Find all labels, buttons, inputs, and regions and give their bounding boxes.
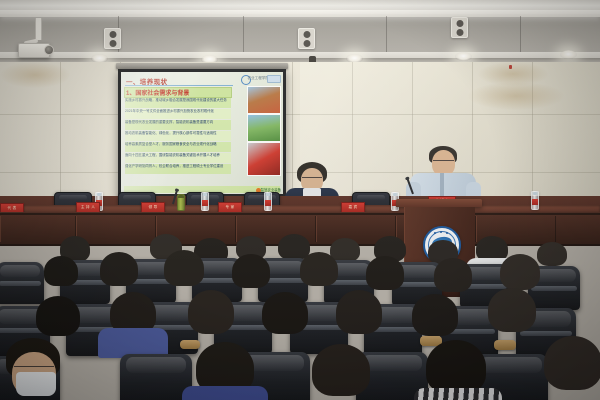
slide-title-rule: [125, 85, 233, 86]
lecture-hall-photo: 一、培养现状 农业工程学院 1、国家社会需求与背景 实施乡村振兴战略，推动城乡融…: [0, 0, 600, 400]
slide-badge: [267, 75, 281, 83]
slide-body-line: 装备是现代农业发展的重要支撑，智能农机装备是重要方向: [125, 120, 231, 130]
downlight-icon: [455, 52, 472, 61]
slide-body-line: 面向十四五重大工程，围绕智能农机装备关键技术开展人才培养: [125, 153, 231, 163]
slide-photo: [247, 114, 281, 142]
wall-stain: [468, 82, 564, 110]
water-bottle: [531, 191, 539, 210]
table-panel: [76, 216, 156, 242]
slide-body-line: 强化产学研协同育人，校企联合培养，推进工程硕士专业学位建设: [125, 164, 231, 174]
slide-subtitle: 1、国家社会需求与背景: [126, 88, 189, 97]
slide-content: 一、培养现状 农业工程学院 1、国家社会需求与背景 实施乡村振兴战略，推动城乡融…: [121, 72, 283, 194]
seat-armrest: [180, 340, 200, 349]
slide-body-line: 2021年中央一号文件全面推进乡村振兴加快农业农村现代化: [125, 109, 231, 119]
speaker-grille-icon: [451, 17, 468, 38]
slide-body-line: 实施乡村振兴战略，推动城乡融合发展是我国现代化建设的重大任务: [125, 98, 231, 108]
placard-text: 专 家: [219, 205, 241, 210]
water-bottle: [264, 192, 272, 211]
slide-body-line: 培养高素质复合型人才，服务国家粮食安全与农业现代化战略: [125, 142, 231, 152]
speaker-grille-icon: [298, 28, 315, 49]
projection-screen: 一、培养现状 农业工程学院 1、国家社会需求与背景 实施乡村振兴战略，推动城乡融…: [118, 69, 286, 197]
placard-text: 嘉 宾: [342, 205, 364, 210]
slide-body-line: 推动农机装备智能化、绿色化，提升核心部件可靠性与适用性: [125, 131, 231, 141]
projector-mount: [35, 18, 42, 40]
slide-logo-text: 农业工程学院: [247, 76, 269, 81]
placard-text: 代 表: [1, 206, 23, 211]
podium-top: [396, 199, 482, 207]
seat-armrest: [494, 340, 516, 350]
ceiling-light-strip: [0, 10, 600, 17]
slide-photo: [247, 142, 281, 176]
table-molding: [0, 213, 600, 215]
auditorium-seat[interactable]: [0, 262, 44, 304]
downlight-icon: [560, 50, 577, 59]
projector-lens-icon: [44, 45, 54, 55]
wall-marker: [509, 65, 512, 69]
slide-photo: [247, 86, 281, 114]
placard-text: 主 持 人: [77, 205, 99, 210]
placard-text: 领 导: [142, 205, 164, 210]
green-thermos: [177, 194, 185, 211]
speaker-grille-icon: [104, 28, 121, 49]
water-bottle: [201, 192, 209, 211]
wall-stain: [0, 62, 70, 88]
